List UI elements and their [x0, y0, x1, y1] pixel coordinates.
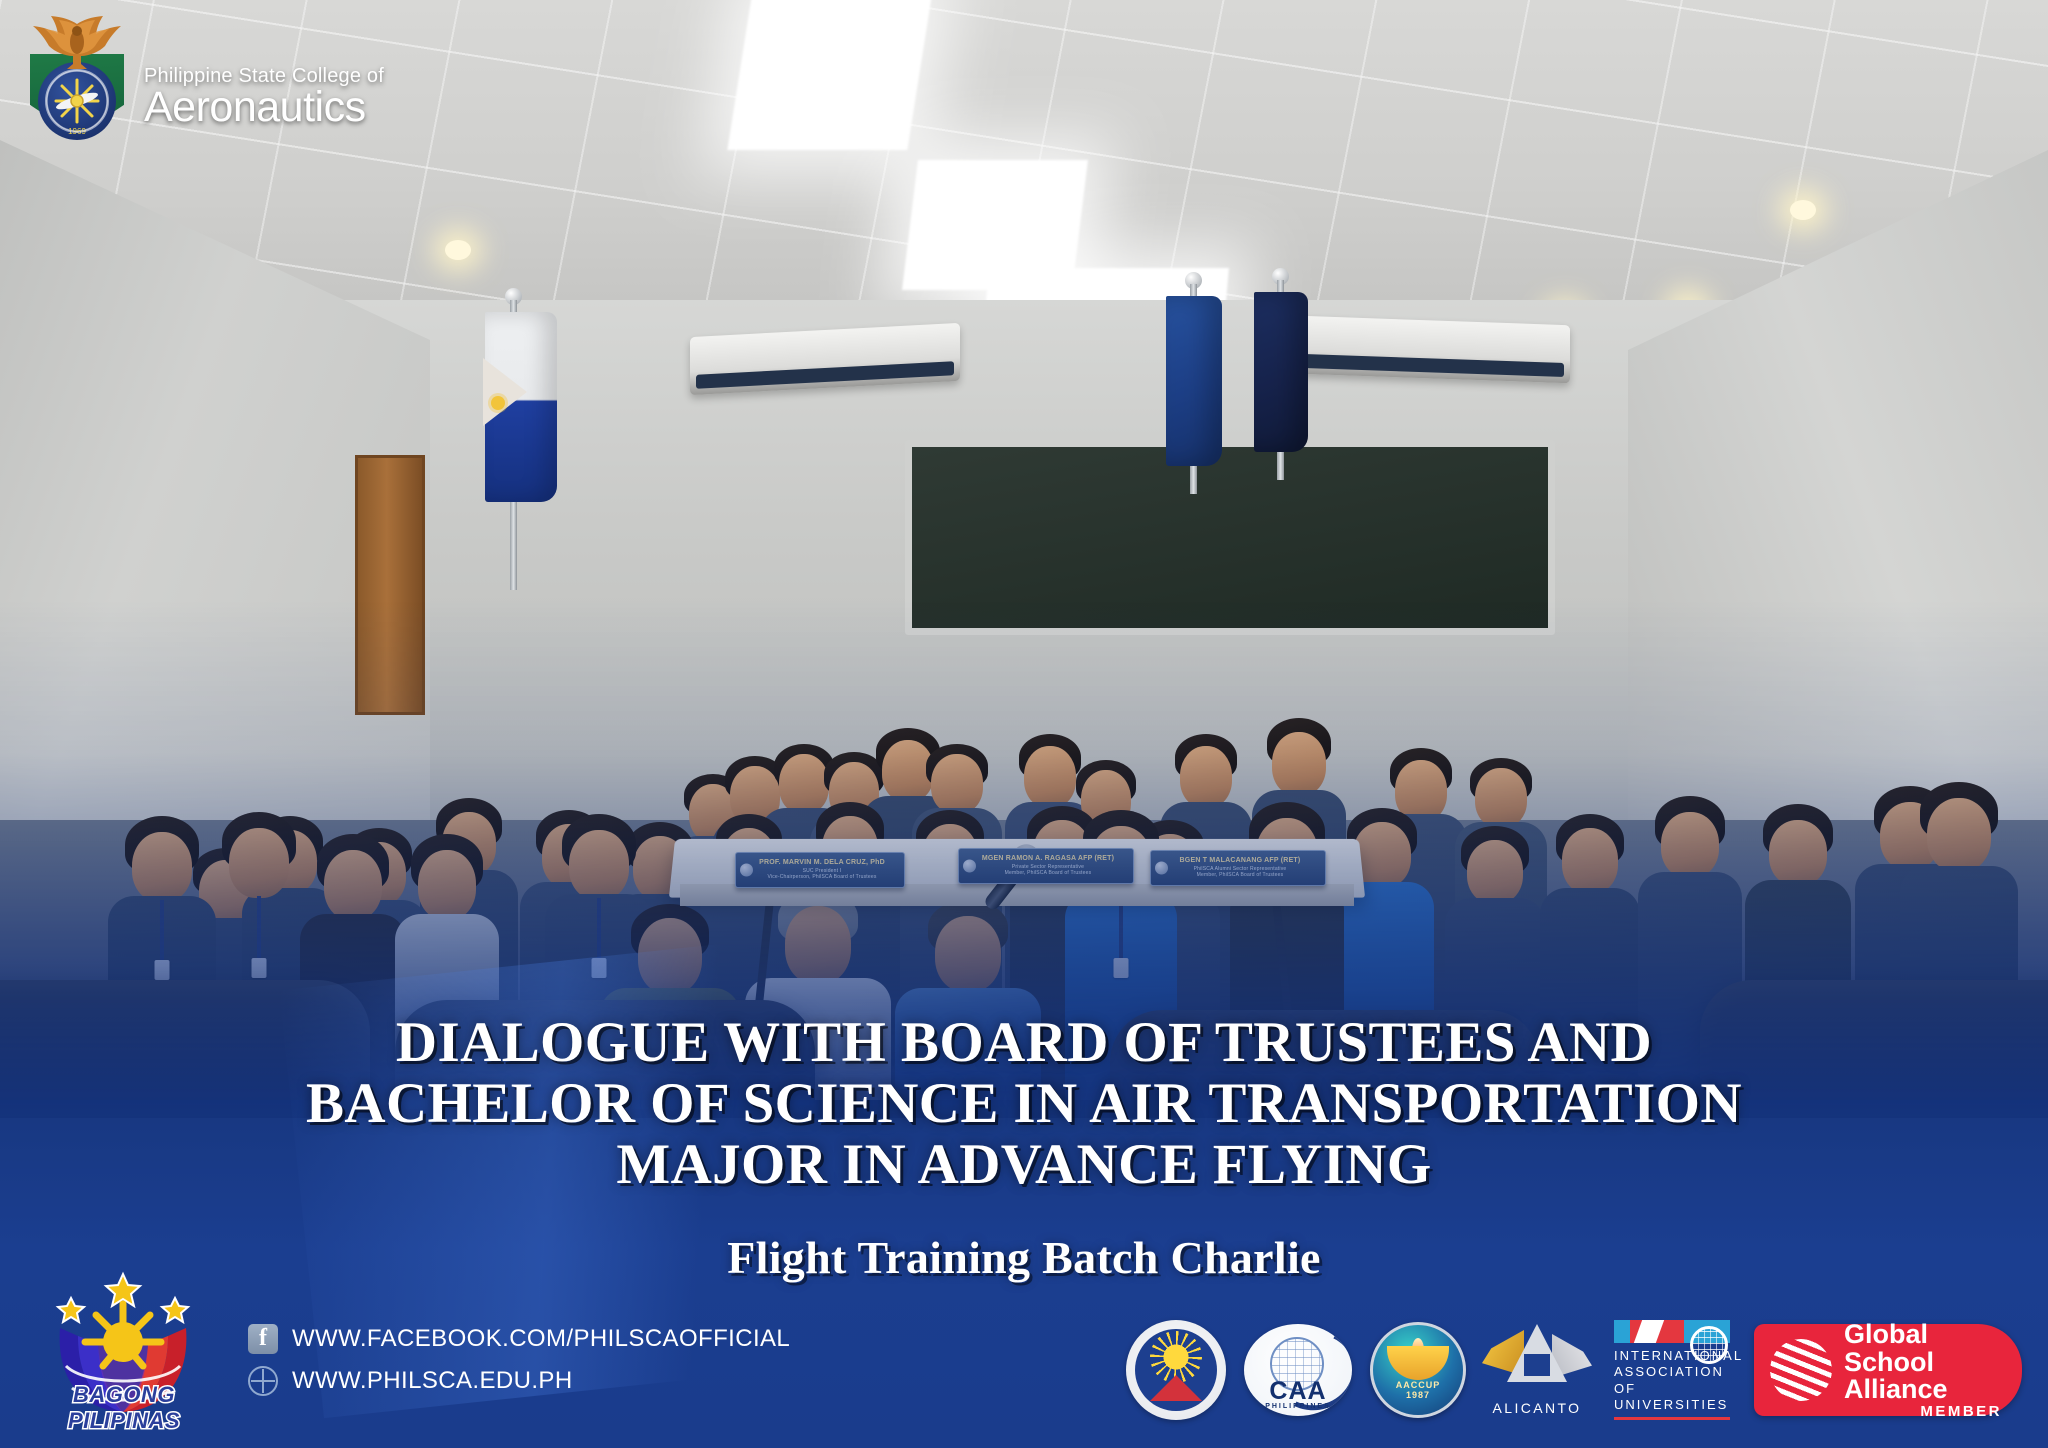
gsa-line1: Global: [1844, 1321, 2002, 1349]
seal-emblem-icon: 1969: [38, 62, 116, 140]
ched-logo: [1126, 1320, 1226, 1420]
event-poster: PROF. MARVIN M. DELA CRUZ, PhD SUC Presi…: [0, 0, 2048, 1448]
roof-icon: [1150, 1375, 1202, 1401]
iau-mark-icon: [1614, 1320, 1730, 1343]
aaccup-label: AACCUP 1987: [1373, 1381, 1463, 1401]
iau-logo: INTERNATIONAL ASSOCIATION OF UNIVERSITIE…: [1608, 1320, 1736, 1420]
brand-text: Philippine State College of Aeronautics: [144, 67, 384, 136]
iau-letter-a: [1630, 1320, 1684, 1343]
title-line-3: MAJOR IN ADVANCE FLYING: [0, 1134, 2048, 1195]
aaccup-logo: AACCUP 1987: [1370, 1320, 1466, 1420]
gsa-line2: School Alliance: [1844, 1349, 2002, 1404]
caa-label: CAA: [1244, 1380, 1352, 1403]
global-school-alliance-logo: Global School Alliance MEMBER: [1754, 1320, 2022, 1420]
contact-website[interactable]: WWW.PHILSCA.EDU.PH: [248, 1366, 790, 1396]
footer: BAGONG PILIPINAS f WWW.FACEBOOK.COM/PHIL…: [0, 1248, 2048, 1448]
eagle-icon: [21, 14, 133, 72]
air-conditioner: [1270, 315, 1570, 383]
contact-facebook[interactable]: f WWW.FACEBOOK.COM/PHILSCAOFFICIAL: [248, 1324, 790, 1354]
gsa-line3: MEMBER: [1844, 1404, 2002, 1419]
title-line-2: BACHELOR OF SCIENCE IN AIR TRANSPORTATIO…: [0, 1073, 2048, 1134]
seal-disc: 1969: [38, 62, 116, 140]
hands-icon: [1387, 1346, 1449, 1380]
title-block: DIALOGUE WITH BOARD OF TRUSTEES AND BACH…: [0, 1012, 2048, 1284]
institution-flag: [1254, 292, 1308, 452]
alicanto-logo: ALICANTO: [1484, 1320, 1590, 1420]
alicanto-label: ALICANTO: [1484, 1400, 1590, 1416]
partner-logos: CAA PHILIPPINES AACCUP 1987: [1126, 1320, 2022, 1420]
caa-logo: CAA PHILIPPINES: [1244, 1320, 1352, 1420]
brand-line-2: Aeronautics: [144, 87, 384, 128]
bagong-pilipinas-caption: BAGONG PILIPINAS: [26, 1382, 222, 1434]
globe-stripes-icon: [1770, 1339, 1832, 1401]
letter-a-cutout: [1524, 1354, 1550, 1376]
iau-label-line2: ASSOCIATION OF: [1614, 1364, 1730, 1397]
aaccup-name: AACCUP: [1396, 1380, 1441, 1390]
title-line-1: DIALOGUE WITH BOARD OF TRUSTEES AND: [0, 1012, 2048, 1073]
globe-icon: [248, 1366, 278, 1396]
facebook-url: WWW.FACEBOOK.COM/PHILSCAOFFICIAL: [292, 1325, 790, 1353]
iau-letter-i: [1614, 1320, 1630, 1343]
website-url: WWW.PHILSCA.EDU.PH: [292, 1367, 573, 1395]
brand-lockup: 1969 Philippine State College of Aeronau…: [24, 18, 384, 136]
iau-rule: [1614, 1417, 1730, 1420]
ceiling-light-panel: [727, 0, 932, 150]
caa-sublabel: PHILIPPINES: [1244, 1403, 1352, 1410]
seal-year: 1969: [68, 127, 86, 136]
facebook-icon: f: [248, 1324, 278, 1354]
contact-list: f WWW.FACEBOOK.COM/PHILSCAOFFICIAL WWW.P…: [248, 1324, 790, 1396]
aaccup-year: 1987: [1406, 1390, 1430, 1400]
downlight-icon: [445, 240, 471, 260]
downlight-icon: [1790, 200, 1816, 220]
iau-label-line3: UNIVERSITIES: [1614, 1397, 1730, 1413]
psca-eagle-seal-icon: 1969: [24, 18, 130, 136]
gsa-text: Global School Alliance MEMBER: [1844, 1321, 2002, 1419]
iau-letter-u: [1684, 1320, 1730, 1343]
